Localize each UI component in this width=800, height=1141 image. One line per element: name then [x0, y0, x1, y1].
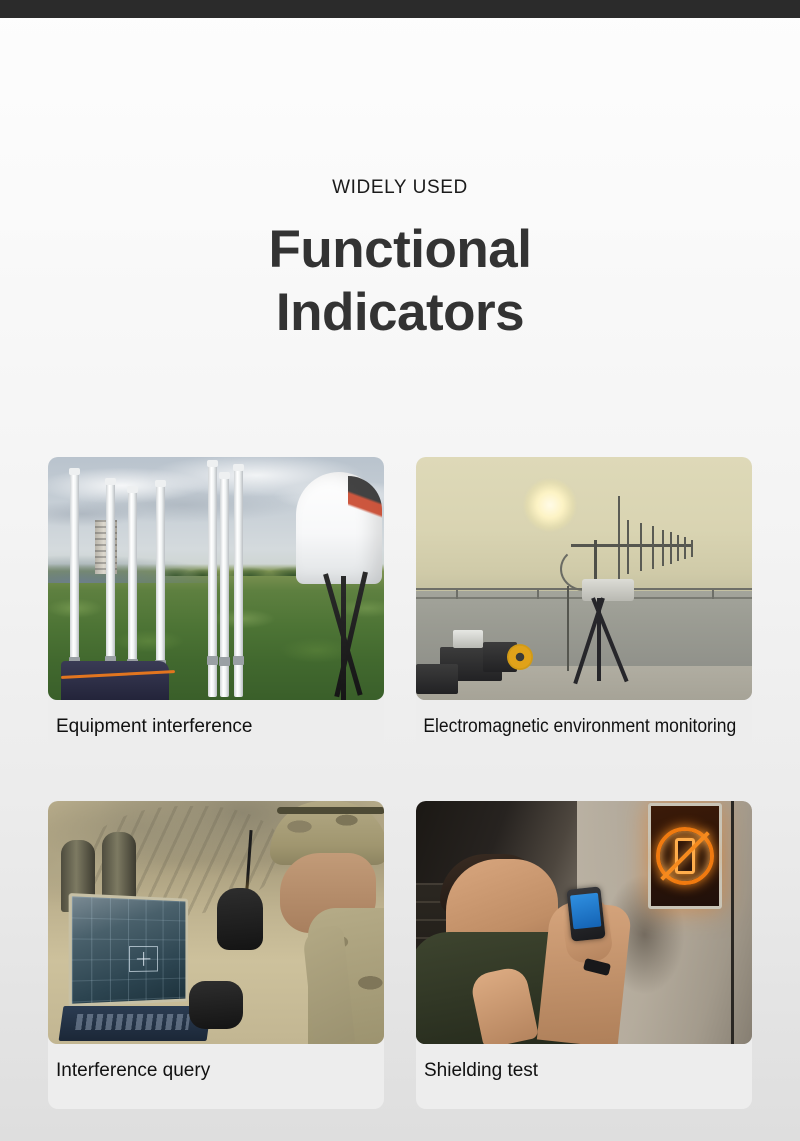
top-dark-bar — [0, 0, 800, 18]
railing-post — [712, 588, 714, 599]
indicator-card-grid: Equipment interference — [48, 457, 752, 1109]
antenna-array-photo — [48, 457, 384, 700]
lpda-element — [640, 523, 642, 572]
card-caption: Electromagnetic environment monitoring — [416, 700, 725, 739]
page-title-line2: Indicators — [0, 282, 800, 345]
antenna-mast — [220, 477, 229, 697]
equipment-canister — [102, 832, 136, 904]
indicator-card-shielding-test[interactable]: Shielding test — [416, 801, 752, 1109]
feed-cable — [567, 586, 569, 671]
screen-reticle — [129, 945, 158, 971]
lpda-element — [662, 530, 664, 566]
gloved-hand — [217, 888, 263, 950]
helmet-band — [277, 807, 384, 814]
lpda-element — [691, 540, 693, 557]
equipment-case — [416, 664, 458, 694]
soldier-figure — [246, 801, 384, 1044]
laptop-screen — [68, 893, 187, 1007]
gloved-hand — [189, 981, 243, 1029]
indicator-card-equipment-interference[interactable]: Equipment interference — [48, 457, 384, 765]
field-laptop — [453, 630, 483, 648]
card-caption: Interference query — [48, 1044, 384, 1083]
field-operator-photo — [48, 801, 384, 1044]
railing-post — [456, 588, 458, 599]
antenna-rotator-box — [582, 579, 634, 601]
lpda-element — [670, 532, 672, 564]
lpda-element — [627, 520, 629, 573]
card-caption: Shielding test — [416, 1044, 752, 1083]
card-caption: Equipment interference — [48, 700, 384, 739]
tripod-leg — [597, 598, 601, 681]
smartphone-screen — [570, 893, 601, 930]
vertical-whip-antenna — [618, 496, 620, 583]
wall-cable — [731, 801, 734, 1044]
shielding-test-photo — [416, 801, 752, 1044]
antenna-mast — [208, 465, 217, 697]
ground-equipment — [61, 661, 169, 700]
indicator-card-em-environment-monitoring[interactable]: Electromagnetic environment monitoring — [416, 457, 752, 765]
section-eyebrow: WIDELY USED — [0, 178, 800, 197]
railing-post — [537, 588, 539, 599]
lpda-element — [677, 535, 679, 562]
hazy-sun — [524, 479, 576, 531]
antenna-mast — [234, 469, 243, 697]
lpda-element — [652, 526, 654, 569]
lpda-antenna-photo — [416, 457, 752, 700]
indicator-card-interference-query[interactable]: Interference query — [48, 801, 384, 1109]
page-content: WIDELY USED Functional Indicators — [0, 18, 800, 1141]
lpda-element — [684, 537, 686, 559]
page-title: Functional Indicators — [0, 219, 800, 344]
tripod-leg — [341, 576, 346, 700]
cable-reel — [507, 644, 533, 670]
dome-jammer-unit — [296, 472, 382, 584]
no-phone-neon-sign — [648, 803, 722, 909]
laptop-keyboard — [75, 1014, 190, 1030]
page-title-line1: Functional — [0, 219, 800, 282]
smartphone — [566, 887, 605, 942]
section-header: WIDELY USED Functional Indicators — [0, 18, 800, 344]
